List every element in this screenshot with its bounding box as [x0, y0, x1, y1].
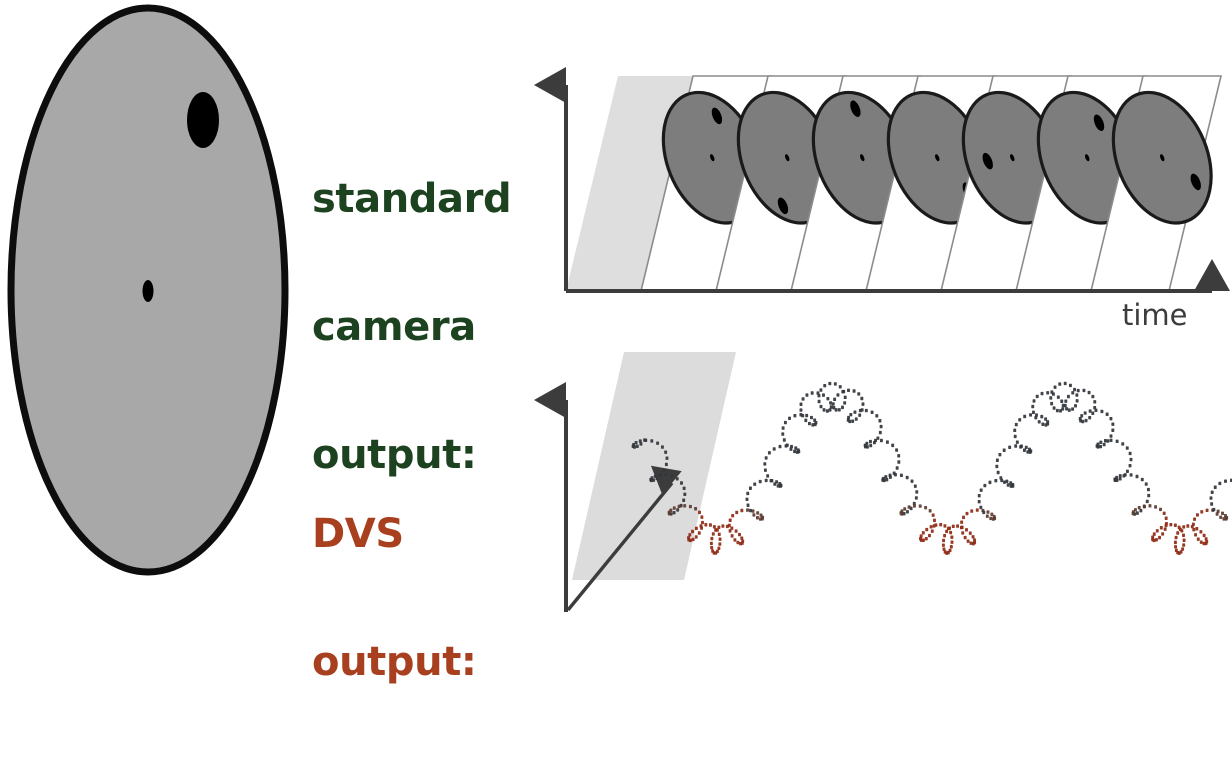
dvs-event-dot	[929, 509, 932, 512]
dvs-event-dot	[980, 488, 983, 491]
dvs-event-dot	[1212, 508, 1215, 511]
dvs-event-dot	[1192, 528, 1195, 531]
dvs-event-dot	[763, 462, 766, 465]
dvs-event-dot	[826, 409, 829, 412]
dvs-event-dot	[1136, 475, 1139, 478]
dvs-ghost-plane	[572, 352, 736, 580]
dvs-event-dot	[759, 517, 762, 520]
dvs-event-dot	[731, 534, 734, 537]
dvs-event-dot	[989, 481, 992, 484]
label-line-dvs: DVS	[312, 513, 477, 556]
dvs-event-dot	[908, 505, 911, 508]
dvs-event-dot	[832, 406, 835, 409]
dvs-event-dot	[900, 509, 903, 512]
dvs-event-dot	[698, 511, 701, 514]
dvs-event-dot	[882, 477, 885, 480]
dvs-event-dot	[889, 474, 892, 477]
dvs-event-dot	[951, 540, 954, 543]
dvs-event-dot	[738, 533, 741, 536]
dvs-event-dot	[766, 474, 769, 477]
scene-standard-camera-frames	[566, 76, 1229, 291]
dvs-event-dot	[997, 471, 1000, 474]
dvs-event-dot	[1069, 384, 1072, 387]
dvs-event-dot	[739, 542, 742, 545]
dvs-event-dot	[1106, 439, 1109, 442]
dvs-event-dot	[779, 445, 782, 448]
dvs-event-dot	[913, 504, 916, 507]
dvs-event-dot	[1156, 529, 1159, 532]
dvs-event-dot	[823, 384, 826, 387]
dvs-event-dot	[695, 527, 698, 530]
dvs-event-dot	[1210, 502, 1213, 505]
dvs-event-dot	[1097, 443, 1100, 446]
dvs-event-dot	[786, 444, 789, 447]
dvs-event-dot	[656, 442, 659, 445]
dvs-event-dot	[1106, 413, 1109, 416]
dvs-event-dot	[806, 393, 809, 396]
dvs-event-dot	[992, 517, 995, 520]
dvs-event-dot	[982, 511, 985, 514]
dvs-event-dot	[1044, 423, 1047, 426]
dvs-event-dot	[903, 507, 906, 510]
dvs-event-dot	[1041, 423, 1044, 426]
dvs-event-dot	[700, 524, 703, 527]
dvs-event-dot	[1141, 478, 1144, 481]
dvs-event-dot	[851, 419, 854, 422]
dvs-event-dot	[894, 473, 897, 476]
dvs-event-dot	[1197, 537, 1200, 540]
dvs-event-dot	[710, 537, 713, 540]
dvs-event-dot	[695, 535, 698, 538]
dvs-event-dot	[1147, 494, 1150, 497]
dvs-event-dot	[844, 396, 847, 399]
dvs-event-dot	[964, 536, 967, 539]
dvs-event-dot	[712, 532, 715, 535]
dvs-event-dot	[1134, 508, 1137, 511]
dvs-event-dot	[1014, 435, 1017, 438]
dvs-event-dot	[1164, 527, 1167, 530]
dvs-event-dot	[1067, 395, 1070, 398]
dvs-event-dot	[970, 509, 973, 512]
dvs-event-dot	[999, 476, 1002, 479]
dvs-event-dot	[989, 517, 992, 520]
dvs-event-dot	[1222, 517, 1225, 520]
dvs-event-dot	[1109, 417, 1112, 420]
dvs-event-dot	[1174, 541, 1177, 544]
dvs-event-dot	[651, 476, 654, 479]
dvs-event-dot	[1071, 407, 1074, 410]
dvs-event-dot	[698, 531, 701, 534]
dvs-event-dot	[782, 426, 785, 429]
dvs-event-dot	[1143, 505, 1146, 508]
dvs-event-dot	[678, 505, 681, 508]
dvs-event-dot	[1015, 423, 1018, 426]
dvs-event-dot	[756, 516, 759, 519]
dvs-event-dot	[1099, 441, 1102, 444]
dvs-event-dot	[1130, 473, 1133, 476]
dvs-event-dot	[811, 391, 814, 394]
dvs-event-dot	[987, 510, 990, 513]
dvs-event-dot	[830, 405, 833, 408]
dvs-event-dot	[900, 474, 903, 477]
dvs-event-dot	[711, 549, 714, 552]
dvs-event-dot	[891, 444, 894, 447]
dvs-event-dot	[1218, 482, 1221, 485]
dvs-event-dot	[1046, 391, 1049, 394]
dvs-event-dot	[752, 513, 755, 516]
scene-big-disk	[11, 8, 285, 572]
dvs-event-dot	[691, 530, 694, 533]
dvs-event-dot	[1023, 415, 1026, 418]
dvs-event-dot	[636, 445, 639, 448]
dvs-event-dot	[1206, 509, 1209, 512]
dvs-event-dot	[1193, 517, 1196, 520]
dvs-event-dot	[659, 473, 662, 476]
dvs-event-dot	[976, 508, 979, 511]
dvs-event-dot	[979, 506, 982, 509]
dvs-event-dot	[865, 442, 868, 445]
dvs-event-dot	[682, 499, 685, 502]
dvs-event-dot	[952, 525, 955, 528]
dvs-event-dot	[943, 547, 946, 550]
dvs-event-dot	[1033, 399, 1036, 402]
dvs-event-dot	[875, 414, 878, 417]
marker-dot-upper	[187, 92, 219, 148]
dvs-event-dot	[650, 439, 653, 442]
dvs-event-dot	[1058, 382, 1061, 385]
dvs-event-dot	[1210, 496, 1213, 499]
dvs-event-dot	[1160, 526, 1163, 529]
dvs-event-dot	[804, 419, 807, 422]
dvs-event-dot	[1099, 445, 1102, 448]
dvs-event-dot	[925, 537, 928, 540]
dvs-event-dot	[978, 494, 981, 497]
dvs-event-dot	[895, 448, 898, 451]
dvs-event-dot	[731, 514, 734, 517]
dvs-explainer-figure: standard camera output: DVS output: time	[0, 0, 1232, 628]
dvs-event-dot	[1211, 491, 1214, 494]
dvs-event-dot	[950, 536, 953, 539]
dvs-event-dot	[939, 523, 942, 526]
dvs-event-dot	[1036, 395, 1039, 398]
dvs-event-dot	[661, 445, 664, 448]
dvs-event-dot	[915, 496, 918, 499]
dvs-event-dot	[710, 546, 713, 549]
dvs-event-dot	[942, 543, 945, 546]
dvs-event-dot	[665, 463, 668, 466]
dvs-event-dot	[719, 537, 722, 540]
dvs-event-dot	[764, 468, 767, 471]
dvs-event-dot	[768, 451, 771, 454]
dvs-event-dot	[1014, 444, 1017, 447]
dvs-event-dot	[1073, 388, 1076, 391]
dvs-event-dot	[1139, 509, 1142, 512]
dvs-event-dot	[1182, 525, 1185, 528]
dvs-event-dot	[664, 451, 667, 454]
dvs-event-dot	[1169, 523, 1172, 526]
dvs-event-dot	[915, 490, 918, 493]
dvs-event-dot	[1176, 531, 1179, 534]
dvs-event-dot	[640, 442, 643, 445]
dvs-event-dot	[1074, 404, 1077, 407]
dvs-event-dot	[1091, 395, 1094, 398]
dvs-event-dot	[922, 531, 925, 534]
dvs-event-dot	[823, 408, 826, 411]
dvs-event-dot	[854, 410, 857, 413]
dvs-event-dot	[906, 510, 909, 513]
dvs-event-dot	[943, 524, 946, 527]
dvs-event-dot	[859, 409, 862, 412]
dvs-event-dot	[718, 533, 721, 536]
dvs-event-dot	[683, 493, 686, 496]
dvs-event-dot	[836, 393, 839, 396]
dvs-event-dot	[773, 482, 776, 485]
dvs-event-dot	[1192, 523, 1195, 526]
dvs-event-dot	[1149, 504, 1152, 507]
dvs-event-dot	[972, 535, 975, 538]
center-dot	[143, 280, 154, 302]
dvs-event-dot	[1216, 512, 1219, 515]
dvs-event-dot	[793, 414, 796, 417]
dvs-event-dot	[995, 465, 998, 468]
dvs-event-dot	[1083, 389, 1086, 392]
dvs-event-dot	[735, 529, 738, 532]
dvs-event-dot	[1111, 423, 1114, 426]
dvs-event-dot	[933, 519, 936, 522]
dvs-event-dot	[1029, 413, 1032, 416]
dvs-event-dot	[1100, 410, 1103, 413]
dvs-event-dot	[717, 547, 720, 550]
dvs-event-dot	[1076, 399, 1079, 402]
dvs-event-dot	[1147, 488, 1150, 491]
dvs-event-dot	[1116, 440, 1119, 443]
dvs-event-dot	[1119, 474, 1122, 477]
dvs-event-dot	[950, 545, 953, 548]
dvs-event-dot	[811, 423, 814, 426]
dvs-event-dot	[956, 524, 959, 527]
dvs-event-dot	[701, 521, 704, 524]
dvs-event-dot	[884, 475, 887, 478]
dvs-event-dot	[828, 382, 831, 385]
dvs-event-dot	[1032, 411, 1035, 414]
dvs-event-dot	[820, 405, 823, 408]
dvs-event-dot	[718, 542, 721, 545]
dvs-event-dot	[826, 397, 829, 400]
dvs-event-dot	[794, 446, 797, 449]
dvs-event-dot	[736, 541, 739, 544]
dvs-event-dot	[770, 479, 773, 482]
dvs-event-dot	[713, 525, 716, 528]
dvs-event-dot	[838, 408, 841, 411]
dvs-event-dot	[928, 534, 931, 537]
dvs-event-dot	[673, 511, 676, 514]
dvs-event-dot	[1200, 540, 1203, 543]
dvs-event-dot	[896, 466, 899, 469]
dvs-event-dot	[1129, 464, 1132, 467]
dvs-event-dot	[967, 539, 970, 542]
dvs-event-dot	[756, 511, 759, 514]
dvs-event-dot	[796, 451, 799, 454]
dvs-event-dot	[654, 474, 657, 477]
dvs-event-dot	[728, 524, 731, 527]
dvs-event-dot	[1064, 382, 1067, 385]
dvs-event-dot	[1221, 512, 1224, 515]
dvs-event-dot	[931, 529, 934, 532]
dvs-event-dot	[960, 521, 963, 524]
dvs-event-dot	[996, 459, 999, 462]
dvs-event-dot	[777, 484, 780, 487]
dvs-event-dot	[919, 504, 922, 507]
dvs-event-dot	[1138, 506, 1141, 509]
dvs-event-dot	[1089, 409, 1092, 412]
dvs-event-dot	[1195, 527, 1198, 530]
dvs-event-dot	[1200, 510, 1203, 513]
dvs-event-dot	[897, 454, 900, 457]
dvs-event-dot	[1183, 539, 1186, 542]
dvs-event-dot	[862, 402, 865, 405]
dvs-event-dot	[1053, 406, 1056, 409]
dvs-event-dot	[669, 509, 672, 512]
dvs-event-dot	[1010, 485, 1013, 488]
dvs-event-dot	[800, 408, 803, 411]
dvs-event-dot	[932, 513, 935, 516]
dvs-event-dot	[1095, 409, 1098, 412]
dvs-event-dot	[1064, 399, 1067, 402]
dvs-event-dot	[833, 398, 836, 401]
dvs-event-dot	[1182, 543, 1185, 546]
dvs-event-dot	[1038, 420, 1041, 423]
dvs-event-dot	[960, 526, 963, 529]
dvs-event-dot	[1159, 508, 1162, 511]
dvs-event-dot	[1124, 473, 1127, 476]
dvs-event-dot	[1103, 443, 1106, 446]
dvs-event-dot	[1182, 534, 1185, 537]
dvs-event-dot	[948, 526, 951, 529]
dvs-event-dot	[683, 504, 686, 507]
scene-dvs-output	[566, 352, 1232, 612]
dvs-event-dot	[871, 411, 874, 414]
dvs-event-dot	[666, 457, 669, 460]
dvs-event-dot	[983, 484, 986, 487]
dvs-event-dot	[1174, 524, 1177, 527]
dvs-event-dot	[735, 511, 738, 514]
dvs-event-dot	[1040, 415, 1043, 418]
camera-frame-group	[641, 76, 1229, 291]
dvs-event-dot	[865, 409, 868, 412]
dvs-event-dot	[1003, 481, 1006, 484]
dvs-event-dot	[663, 468, 666, 471]
dvs-event-dot	[1179, 528, 1182, 531]
dvs-event-dot	[1130, 458, 1133, 461]
dvs-event-dot	[1153, 532, 1156, 535]
dvs-event-dot	[1016, 440, 1019, 443]
dvs-event-dot	[1154, 505, 1157, 508]
dvs-event-dot	[1003, 449, 1006, 452]
dvs-event-dot	[714, 528, 717, 531]
dvs-event-dot	[1031, 405, 1034, 408]
dvs-event-dot	[818, 400, 821, 403]
dvs-event-dot	[808, 422, 811, 425]
dvs-event-dot	[687, 536, 690, 539]
dvs-event-dot	[793, 450, 796, 453]
dvs-event-dot	[802, 397, 805, 400]
dvs-event-dot	[1093, 400, 1096, 403]
dvs-event-dot	[1174, 545, 1177, 548]
dvs-event-dot	[1115, 476, 1118, 479]
dvs-event-dot	[1050, 402, 1053, 405]
dvs-event-dot	[998, 453, 1001, 456]
dvs-event-dot	[970, 542, 973, 545]
dvs-event-dot	[676, 477, 679, 480]
dvs-event-dot	[1199, 530, 1202, 533]
dvs-event-dot	[878, 419, 881, 422]
dvs-event-dot	[1163, 512, 1166, 515]
dvs-event-dot	[683, 487, 686, 490]
dvs-event-dot	[670, 474, 673, 477]
dvs-event-dot	[847, 389, 850, 392]
dvs-event-dot	[800, 403, 803, 406]
dvs-event-dot	[1129, 452, 1132, 455]
dvs-event-dot	[924, 506, 927, 509]
dvs-event-dot	[759, 480, 762, 483]
dvs-event-dot	[692, 538, 695, 541]
dvs-event-dot	[886, 440, 889, 443]
dvs-event-dot	[1146, 500, 1149, 503]
dvs-event-dot	[986, 515, 989, 518]
dvs-event-dot	[1057, 395, 1060, 398]
dvs-event-dot	[1019, 445, 1022, 448]
dvs-event-dot	[773, 447, 776, 450]
dvs-event-dot	[914, 484, 917, 487]
dvs-event-dot	[829, 408, 832, 411]
dvs-event-dot	[1008, 446, 1011, 449]
dvs-event-dot	[847, 416, 850, 419]
dvs-event-dot	[906, 476, 909, 479]
dvs-event-dot	[978, 500, 981, 503]
dvs-event-dot	[841, 390, 844, 393]
dvs-event-dot	[880, 425, 883, 428]
dvs-event-dot	[994, 479, 997, 482]
dvs-event-dot	[1155, 538, 1158, 541]
dvs-event-dot	[1126, 446, 1129, 449]
dvs-event-dot	[1071, 391, 1074, 394]
dvs-event-dot	[1054, 385, 1057, 388]
dvs-event-dot	[969, 532, 972, 535]
dvs-event-dot	[789, 447, 792, 450]
dvs-event-dot	[860, 397, 863, 400]
dvs-event-dot	[1023, 449, 1026, 452]
dvs-event-dot	[849, 413, 852, 416]
dvs-event-dot	[1161, 532, 1164, 535]
dvs-event-dot	[644, 439, 647, 442]
dvs-event-dot	[853, 389, 856, 392]
dvs-event-dot	[740, 536, 743, 539]
label-line-dvs-output: output:	[312, 641, 477, 684]
dvs-event-dot	[911, 479, 914, 482]
dvs-event-dot	[676, 508, 679, 511]
dvs-event-dot	[729, 519, 732, 522]
dvs-event-dot	[783, 438, 786, 441]
dvs-event-dot	[965, 528, 968, 531]
dvs-event-dot	[1013, 429, 1016, 432]
dvs-event-dot	[869, 440, 872, 443]
dvs-event-dot	[765, 456, 768, 459]
dvs-event-dot	[733, 538, 736, 541]
dvs-event-dot	[746, 498, 749, 501]
dvs-event-dot	[680, 481, 683, 484]
dvs-event-dot	[1186, 524, 1189, 527]
dvs-event-dot	[673, 506, 676, 509]
